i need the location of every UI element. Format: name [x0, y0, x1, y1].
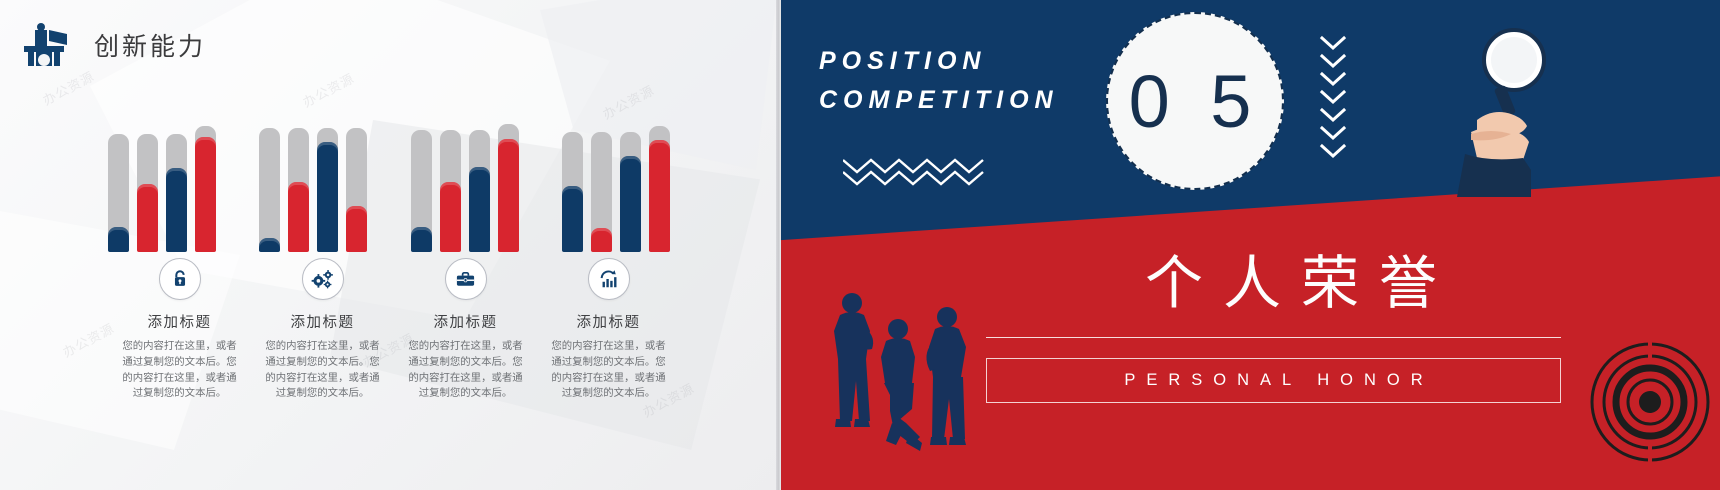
right-section-panel: POSITION COMPETITION 0 5	[781, 0, 1720, 490]
bar-column	[137, 96, 158, 252]
chevron-down-stack-icon	[1319, 34, 1347, 166]
bar-column	[346, 96, 367, 252]
feature-card-2[interactable]: 添加标题 您的内容打在这里，或者通过复制您的文本后。您的内容打在这里，或者通过复…	[251, 258, 394, 402]
feature-card-body: 您的内容打在这里，或者通过复制您的文本后。您的内容打在这里，或者通过复制您的文本…	[405, 339, 527, 402]
bar-column	[317, 96, 338, 252]
businessmen-silhouette-icon	[816, 285, 991, 490]
section-eyebrow: POSITION COMPETITION	[819, 42, 1059, 120]
feature-card-1[interactable]: 添加标题 您的内容打在这里，或者通过复制您的文本后。您的内容打在这里，或者通过复…	[108, 258, 251, 402]
target-rings-icon	[1588, 340, 1712, 464]
bar-column	[649, 96, 670, 252]
bar-column	[469, 96, 490, 252]
bar-track	[259, 128, 280, 252]
bar-value-red	[498, 139, 519, 252]
bar-column	[166, 96, 187, 252]
feature-card-body: 您的内容打在这里，或者通过复制您的文本后。您的内容打在这里，或者通过复制您的文本…	[262, 339, 384, 402]
bar-value-navy	[411, 227, 432, 252]
bar-group	[259, 96, 375, 252]
bar-value-red	[137, 184, 158, 252]
lock-icon[interactable]	[159, 258, 201, 300]
presenter-lectern-icon	[22, 22, 74, 68]
feature-card-3[interactable]: 添加标题 您的内容打在这里，或者通过复制您的文本后。您的内容打在这里，或者通过复…	[394, 258, 537, 402]
feature-card-list: 添加标题 您的内容打在这里，或者通过复制您的文本后。您的内容打在这里，或者通过复…	[108, 258, 680, 402]
section-number: 0 5	[1129, 59, 1262, 144]
bar-value-red	[440, 182, 461, 252]
bar-group	[562, 96, 678, 252]
feature-card-body: 您的内容打在这里，或者通过复制您的文本后。您的内容打在这里，或者通过复制您的文本…	[119, 339, 241, 402]
bar-chart	[108, 96, 678, 252]
feature-card-title: 添加标题	[291, 311, 355, 332]
slide-canvas: 办公资源 办公资源 办公资源 办公资源 办公资源 办公资源 创新能力	[0, 0, 1720, 490]
watermark: 办公资源	[39, 66, 97, 109]
magnifier-hand-icon	[1441, 22, 1591, 202]
bar-column	[498, 96, 519, 252]
bar-value-navy	[166, 168, 187, 252]
feature-card-title: 添加标题	[577, 311, 641, 332]
growth-chart-refresh-icon[interactable]	[588, 258, 630, 300]
section-heading-en: PERSONAL HONOR	[1113, 371, 1433, 390]
feature-card-body: 您的内容打在这里，或者通过复制您的文本后。您的内容打在这里，或者通过复制您的文本…	[548, 339, 670, 402]
bar-value-red	[649, 140, 670, 252]
briefcase-icon[interactable]	[445, 258, 487, 300]
bar-column	[562, 96, 583, 252]
bar-value-red	[195, 137, 216, 252]
bar-value-navy	[620, 156, 641, 252]
bar-value-red	[591, 228, 612, 252]
bar-column	[440, 96, 461, 252]
section-eyebrow-line1: POSITION	[819, 42, 1059, 81]
bar-column	[259, 96, 280, 252]
bar-value-red	[346, 206, 367, 252]
slide-header: 创新能力	[22, 22, 206, 68]
left-content-panel: 办公资源 办公资源 办公资源 办公资源 办公资源 办公资源 创新能力	[0, 0, 780, 490]
section-heading-cn: 个人荣誉	[981, 236, 1601, 320]
bar-value-navy	[317, 142, 338, 252]
bar-column	[620, 96, 641, 252]
bar-value-navy	[108, 227, 129, 252]
bar-column	[288, 96, 309, 252]
section-heading-en-box: PERSONAL HONOR	[986, 358, 1561, 403]
feature-card-title: 添加标题	[148, 311, 212, 332]
page-title: 创新能力	[94, 27, 206, 63]
feature-card-4[interactable]: 添加标题 您的内容打在这里，或者通过复制您的文本后。您的内容打在这里，或者通过复…	[537, 258, 680, 402]
zigzag-icon	[843, 152, 991, 191]
bar-column	[195, 96, 216, 252]
bar-value-navy	[562, 186, 583, 252]
bar-value-navy	[259, 238, 280, 252]
bar-value-red	[288, 182, 309, 252]
gears-icon[interactable]	[302, 258, 344, 300]
bar-column	[411, 96, 432, 252]
bar-column	[591, 96, 612, 252]
section-number-badge: 0 5	[1106, 12, 1284, 190]
bar-column	[108, 96, 129, 252]
bar-group	[411, 96, 527, 252]
heading-divider-rule	[986, 337, 1561, 338]
feature-card-title: 添加标题	[434, 311, 498, 332]
bar-value-navy	[469, 167, 490, 252]
section-eyebrow-line2: COMPETITION	[819, 81, 1059, 120]
bar-group	[108, 96, 224, 252]
